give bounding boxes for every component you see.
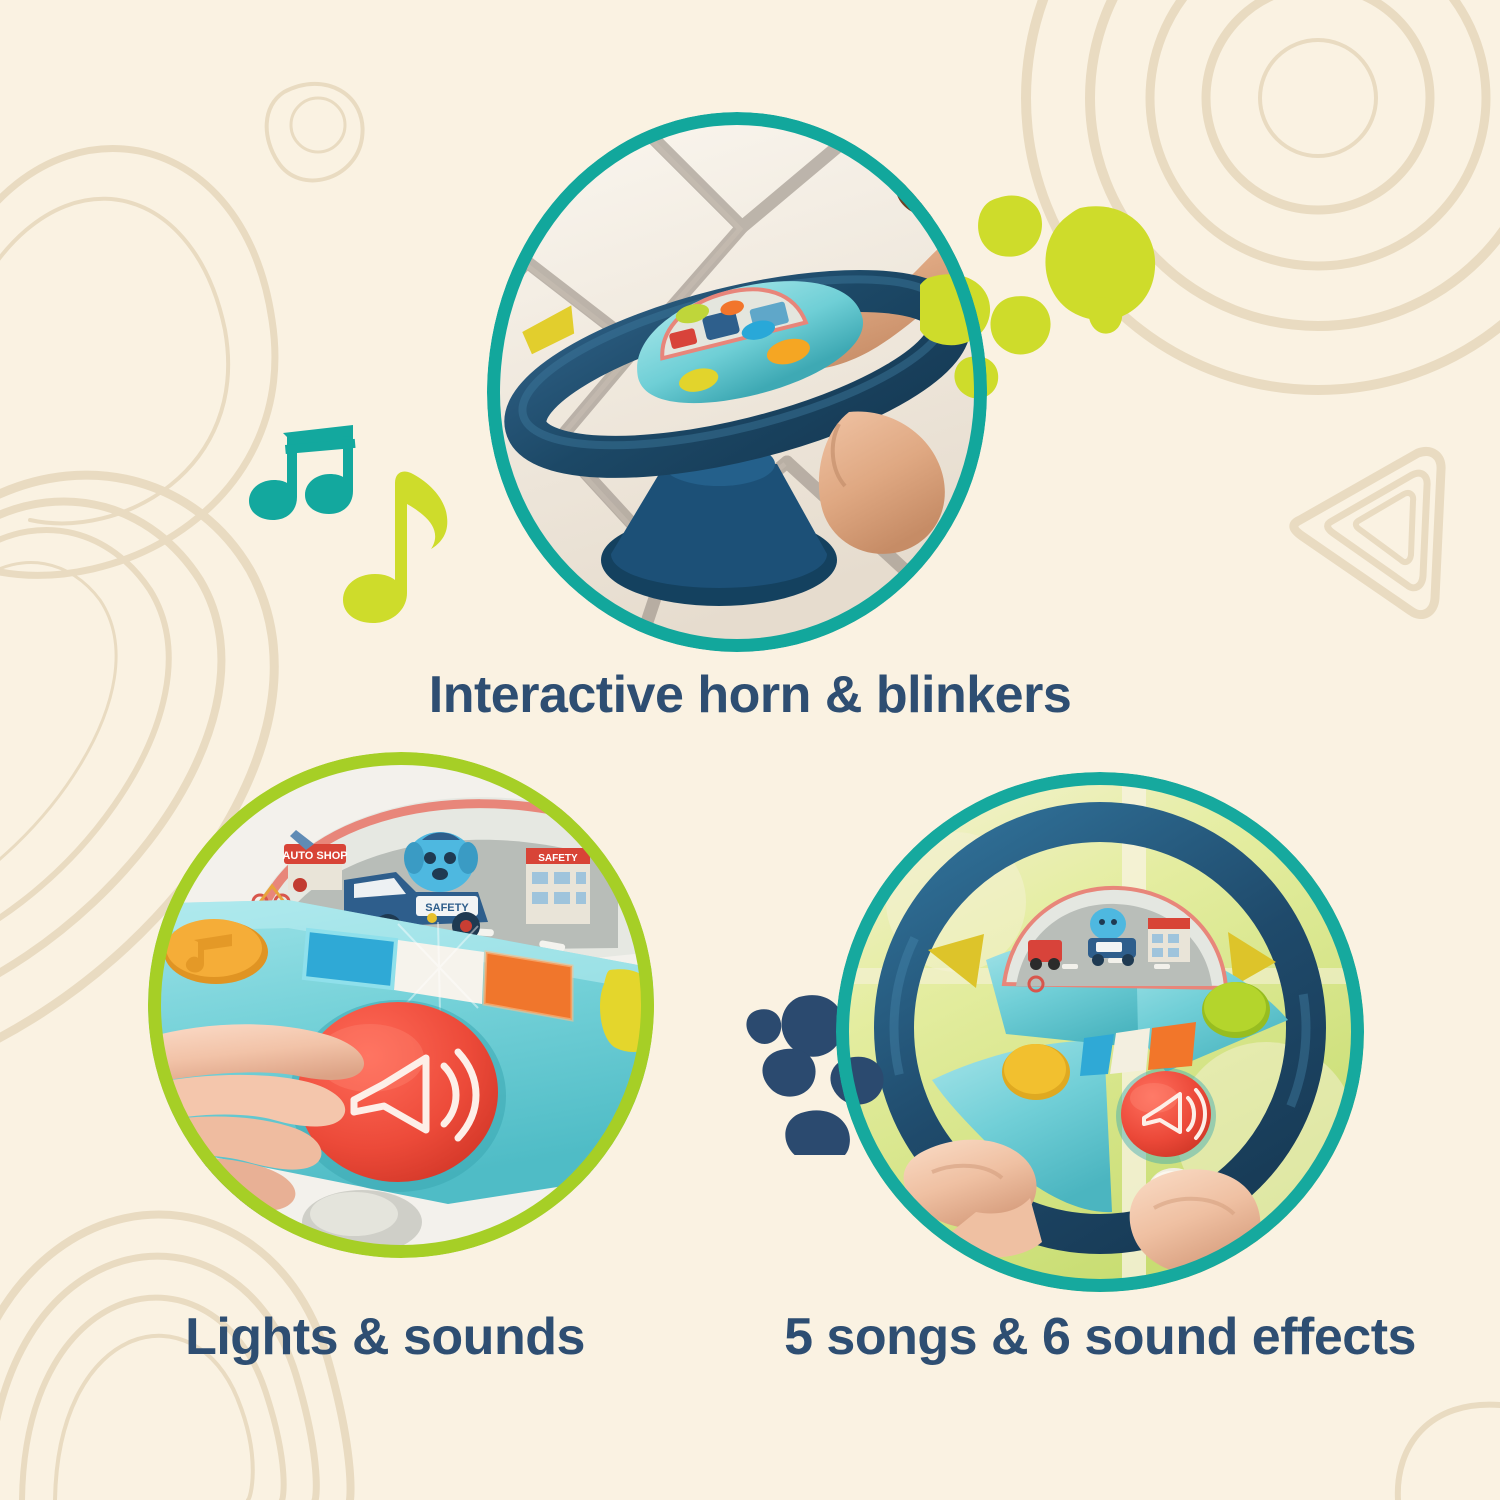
- caption-bottom-left: Lights & sounds: [0, 1307, 770, 1367]
- infographic-canvas: Interactive horn & blinkers: [0, 0, 1500, 1500]
- concentric-arcs-doodle: [0, 149, 275, 576]
- music-button-yellow: [1002, 1044, 1070, 1100]
- panel-photo-bottom-left: AUTO SHOP SAFETY: [148, 752, 654, 1258]
- panel-photo-bottom-right: [836, 772, 1364, 1292]
- blinker-button: [600, 969, 654, 1052]
- safety-building: SAFETY: [526, 848, 590, 924]
- svg-text:AUTO SHOP: AUTO SHOP: [282, 850, 347, 862]
- svg-text:SAFETY: SAFETY: [425, 902, 469, 914]
- photo-child-with-wheel: [487, 112, 987, 652]
- caption-top: Interactive horn & blinkers: [0, 665, 1500, 725]
- photo-horn-button-closeup: AUTO SHOP SAFETY: [148, 752, 654, 1258]
- caption-bottom-right: 5 songs & 6 sound effects: [700, 1307, 1500, 1367]
- panel-photo-top: [487, 112, 987, 652]
- photo-full-steering-wheel: [836, 772, 1364, 1292]
- music-note-icon: [343, 471, 447, 623]
- hand-left: [904, 1140, 1042, 1258]
- bottom-right-arc-doodle: [1398, 1405, 1500, 1500]
- small-ring-doodle: [267, 84, 363, 181]
- double-music-note-icon: [249, 425, 356, 520]
- svg-text:SAFETY: SAFETY: [538, 853, 578, 864]
- lime-button: [1202, 982, 1270, 1038]
- music-notes-decoration: [245, 425, 475, 635]
- lime-dots-decoration: [920, 180, 1160, 410]
- navy-dots-decoration: [735, 995, 905, 1155]
- horn-button: [1116, 1068, 1216, 1164]
- spiral-triangle-doodle: [1294, 452, 1441, 615]
